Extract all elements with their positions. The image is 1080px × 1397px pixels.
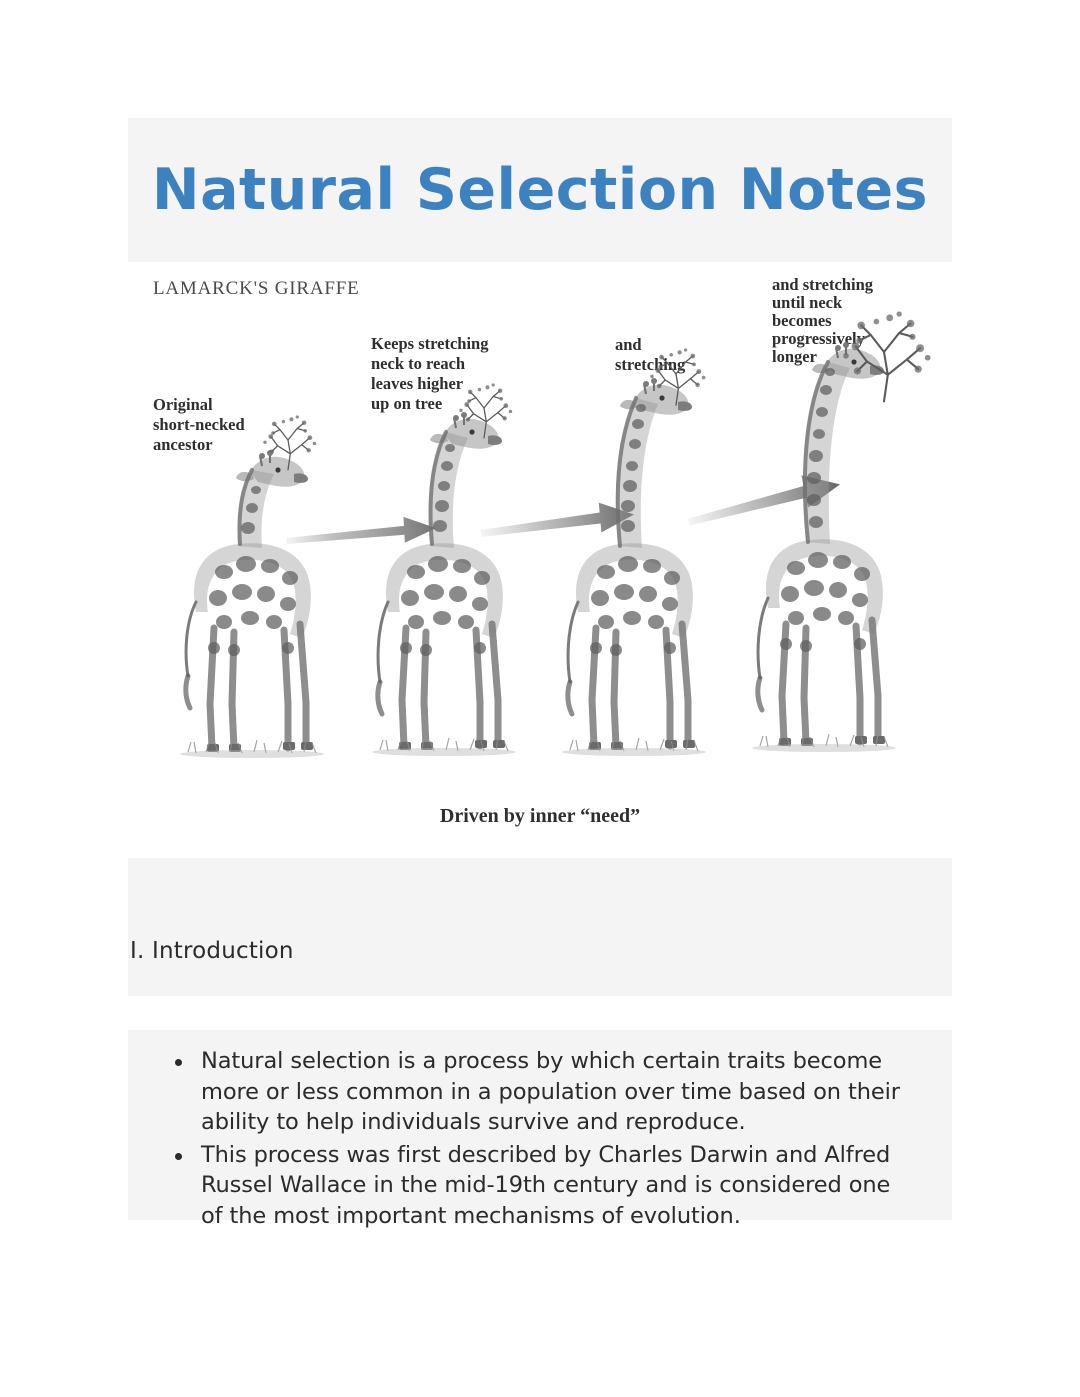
figure-lamarcks-giraffe: LAMARCK'S GIRAFFE Original short-necked … [128, 262, 952, 858]
svg-text:and: and [615, 335, 642, 354]
svg-text:until neck: until neck [772, 293, 843, 312]
svg-text:stretching: stretching [615, 355, 686, 374]
introduction-bullet-list: Natural selection is a process by which … [128, 1030, 952, 1231]
svg-text:longer: longer [772, 347, 817, 366]
document-page: Natural Selection Notes [0, 0, 1080, 1397]
section-heading-band: I. Introduction [128, 858, 952, 996]
figure-heading: LAMARCK'S GIRAFFE [153, 278, 360, 299]
svg-text:and stretching: and stretching [772, 275, 874, 294]
svg-text:becomes: becomes [772, 311, 832, 330]
page-title: Natural Selection Notes [152, 162, 928, 219]
title-band: Natural Selection Notes [128, 118, 952, 262]
svg-text:Keeps stretching: Keeps stretching [371, 334, 489, 353]
svg-text:short-necked: short-necked [153, 415, 245, 434]
section-heading: I. Introduction [128, 938, 294, 996]
svg-text:leaves higher: leaves higher [371, 374, 463, 393]
list-item: This process was first described by Char… [161, 1140, 912, 1232]
svg-text:Original: Original [153, 395, 213, 414]
bullet-band: Natural selection is a process by which … [128, 1030, 952, 1220]
giraffe-diagram-svg: LAMARCK'S GIRAFFE Original short-necked … [128, 262, 952, 858]
svg-text:progressively: progressively [772, 329, 866, 348]
svg-text:up on tree: up on tree [371, 394, 442, 413]
figure-caption: Driven by inner “need” [440, 805, 640, 827]
svg-text:ancestor: ancestor [153, 435, 213, 454]
list-item: Natural selection is a process by which … [161, 1046, 912, 1138]
svg-text:neck to reach: neck to reach [371, 354, 465, 373]
